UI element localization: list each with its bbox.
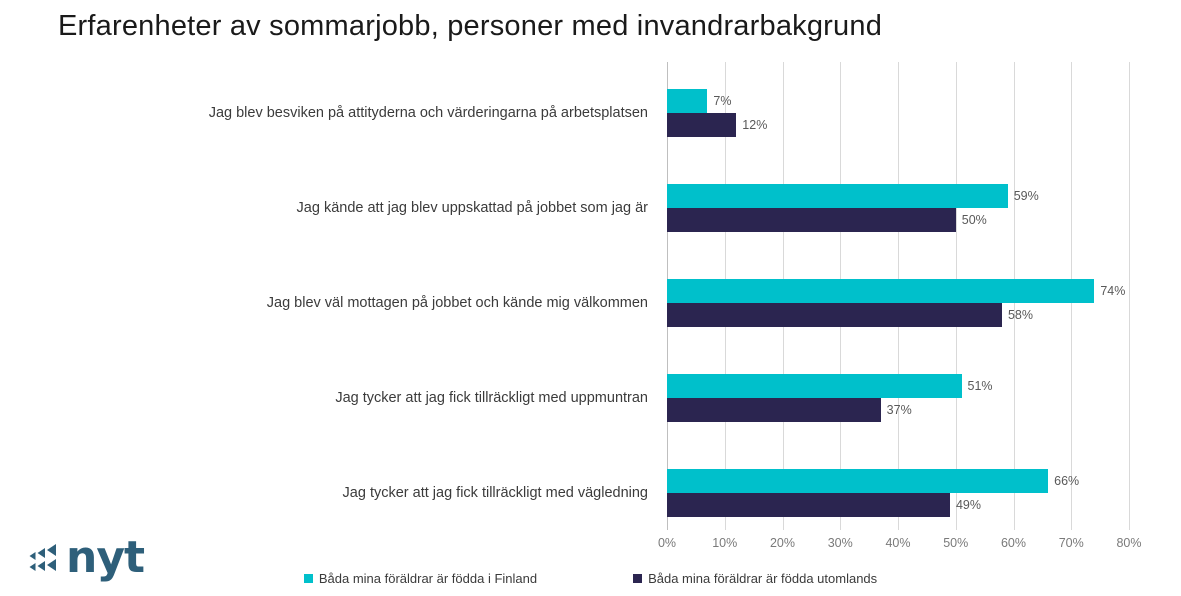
bar-value-label: 37% <box>887 398 912 422</box>
bar-value-label: 50% <box>962 208 987 232</box>
bar-value-label: 59% <box>1014 184 1039 208</box>
axis-tick-label: 20% <box>770 536 795 550</box>
bar <box>667 303 1002 327</box>
bar-value-label: 49% <box>956 493 981 517</box>
triangle-fractal-mark-icon <box>26 542 62 574</box>
bar-value-label: 12% <box>742 113 767 137</box>
legend-swatch <box>633 574 642 583</box>
axis-tick-label: 50% <box>943 536 968 550</box>
category-label: Jag blev besviken på attityderna och vär… <box>178 104 648 122</box>
bar-value-label: 66% <box>1054 469 1079 493</box>
axis-tick-label: 60% <box>1001 536 1026 550</box>
chart-canvas: Jag blev besviken på attityderna och vär… <box>0 62 1181 534</box>
bar <box>667 208 956 232</box>
chart-legend: Båda mina föräldrar är födda i FinlandBå… <box>0 567 1181 589</box>
bar-value-label: 74% <box>1100 279 1125 303</box>
category-label: Jag blev väl mottagen på jobbet och känd… <box>178 294 648 312</box>
bar <box>667 493 950 517</box>
page-title: Erfarenheter av sommarjobb, personer med… <box>58 10 882 43</box>
category-label: Jag tycker att jag fick tillräckligt med… <box>178 484 648 502</box>
bar <box>667 279 1094 303</box>
axis-tick-label: 80% <box>1116 536 1141 550</box>
plot-area: 7%12%59%50%74%58%51%37%66%49% <box>667 62 1129 530</box>
axis-tick-label: 10% <box>712 536 737 550</box>
bar <box>667 374 962 398</box>
axis-tick-label: 40% <box>885 536 910 550</box>
bar <box>667 184 1008 208</box>
gridline <box>1129 62 1130 530</box>
bar-value-label: 51% <box>968 374 993 398</box>
brand-logo: nyt <box>26 536 144 580</box>
bar <box>667 398 881 422</box>
bar <box>667 89 707 113</box>
legend-item[interactable]: Båda mina föräldrar är födda i Finland <box>304 571 537 586</box>
value-axis-ticks: 0%10%20%30%40%50%60%70%80% <box>667 536 1129 556</box>
logo-wordmark: nyt <box>66 536 144 580</box>
axis-tick-label: 30% <box>828 536 853 550</box>
category-axis: Jag blev besviken på attityderna och vär… <box>180 62 658 530</box>
bar-value-label: 7% <box>713 89 731 113</box>
category-label: Jag tycker att jag fick tillräckligt med… <box>178 389 648 407</box>
category-label: Jag kände att jag blev uppskattad på job… <box>178 199 648 217</box>
axis-tick-label: 70% <box>1059 536 1084 550</box>
legend-label: Båda mina föräldrar är födda utomlands <box>648 571 877 586</box>
legend-label: Båda mina föräldrar är födda i Finland <box>319 571 537 586</box>
axis-tick-label: 0% <box>658 536 676 550</box>
bar <box>667 469 1048 493</box>
legend-item[interactable]: Båda mina föräldrar är födda utomlands <box>633 571 877 586</box>
bar <box>667 113 736 137</box>
bar-value-label: 58% <box>1008 303 1033 327</box>
legend-swatch <box>304 574 313 583</box>
